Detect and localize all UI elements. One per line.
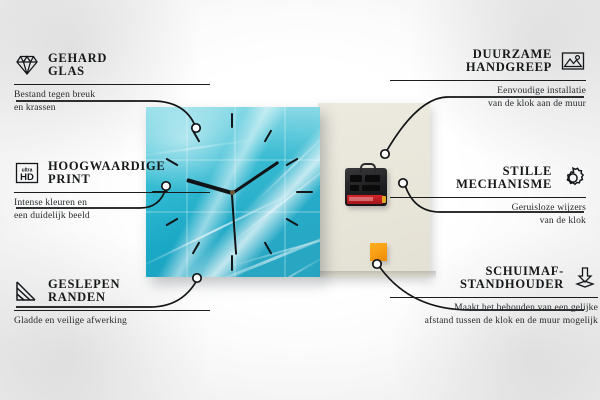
feature-schuimaf-standhouder[interactable]: SCHUIMAF- STANDHOUDER Maakt het behouden… [390, 265, 598, 327]
feature-divider [14, 192, 210, 193]
feature-title-line-1: HOOGWAARDIGE [48, 160, 165, 173]
feature-title-line-2: GLAS [48, 65, 107, 78]
feature-divider [14, 310, 210, 311]
feature-description: Gladde en veilige afwerking [14, 315, 210, 328]
feature-title-line-1: STILLE [456, 165, 552, 178]
feature-divider [14, 84, 210, 85]
feature-description: Intense kleuren en een duidelijk beeld [14, 197, 210, 222]
feature-title-line-1: SCHUIMAF- [460, 265, 564, 278]
ultra-hd-icon: ultra HD [14, 160, 40, 186]
feature-duurzame-handgreep[interactable]: DUURZAME HANDGREEP Eenvoudige installati… [390, 48, 586, 110]
feature-title-line-2: RANDEN [48, 291, 120, 304]
feature-stille-mechanisme[interactable]: STILLE MECHANISME Geruisloze wijzers van… [390, 165, 586, 227]
feature-divider [390, 197, 586, 198]
feature-title-line-1: GESLEPEN [48, 278, 120, 291]
feature-description: Bestand tegen breuk en krassen [14, 89, 210, 114]
down-arrow-pad-icon [572, 265, 598, 291]
feature-title-line-1: DUURZAME [466, 48, 552, 61]
feature-description: Maakt het behouden van een gelijke afsta… [390, 302, 598, 327]
svg-text:HD: HD [20, 172, 34, 183]
feature-description: Eenvoudige installatie van de klok aan d… [390, 85, 586, 110]
feature-gehard-glas[interactable]: GEHARD GLAS Bestand tegen breuk en krass… [14, 52, 210, 114]
feature-description: Geruisloze wijzers van de klok [390, 202, 586, 227]
feature-divider [390, 297, 598, 298]
feature-title-line-2: PRINT [48, 173, 165, 186]
feature-divider [390, 80, 586, 81]
gear-icon [560, 165, 586, 191]
feature-geslepen-randen[interactable]: GESLEPEN RANDEN Gladde en veilige afwerk… [14, 278, 210, 328]
feature-title-line-2: MECHANISME [456, 178, 552, 191]
feature-title-line-2: STANDHOUDER [460, 278, 564, 291]
framed-picture-icon [560, 48, 586, 74]
feature-title-line-1: GEHARD [48, 52, 107, 65]
beveled-edge-icon [14, 278, 40, 304]
feature-hoogwaardige-print[interactable]: ultra HD HOOGWAARDIGE PRINT Intense kleu… [14, 160, 210, 222]
feature-title-line-2: HANDGREEP [466, 61, 552, 74]
diamond-icon [14, 52, 40, 78]
infographic-canvas: GEHARD GLAS Bestand tegen breuk en krass… [0, 0, 600, 400]
